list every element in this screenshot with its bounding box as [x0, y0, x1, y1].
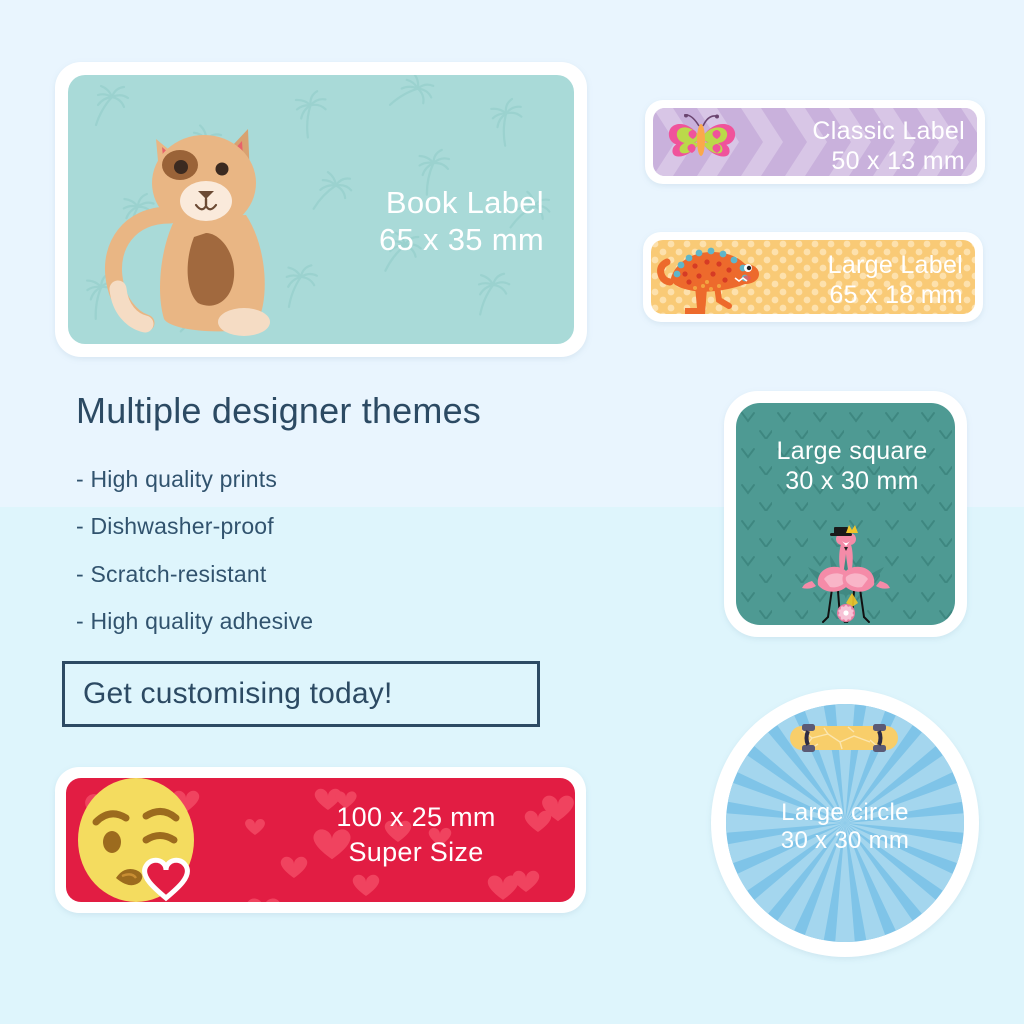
super-size-sticker[interactable]: 100 x 25 mm Super Size [55, 767, 586, 913]
cta-button[interactable]: Get customising today! [62, 661, 540, 727]
large-label-face: Large Label 65 x 18 mm [651, 240, 975, 314]
cta-button-label: Get customising today! [83, 677, 393, 711]
book-label-text: Book Label 65 x 35 mm [244, 185, 544, 258]
feature-list-item: - Scratch-resistant [76, 561, 266, 588]
large-square-sticker[interactable]: Large square 30 x 30 mm [724, 391, 967, 637]
large-label-sticker[interactable]: Large Label 65 x 18 mm [643, 232, 983, 322]
large-square-text: Large square 30 x 30 mm [752, 437, 952, 496]
kissing-face-emoji-icon [74, 778, 210, 902]
classic-label-text: Classic Label 50 x 13 mm [735, 117, 965, 176]
super-size-face: 100 x 25 mm Super Size [66, 778, 575, 902]
large-circle-text: Large circle 30 x 30 mm [738, 799, 952, 856]
promo-graphic: Book Label 65 x 35 mm [0, 0, 1024, 1024]
book-label-face: Book Label 65 x 35 mm [68, 75, 574, 344]
skateboard-icon [788, 722, 900, 756]
large-square-face: Large square 30 x 30 mm [736, 403, 955, 625]
feature-list-item: - High quality prints [76, 466, 277, 493]
flamingos-icon [782, 517, 910, 625]
feature-list-item: - High quality adhesive [76, 608, 313, 635]
large-circle-sticker[interactable]: Large circle 30 x 30 mm [711, 689, 979, 957]
large-circle-face: Large circle 30 x 30 mm [726, 704, 964, 942]
classic-label-face: Classic Label 50 x 13 mm [653, 108, 977, 176]
classic-label-sticker[interactable]: Classic Label 50 x 13 mm [645, 100, 985, 184]
page-headline: Multiple designer themes [76, 390, 481, 432]
super-size-text: 100 x 25 mm Super Size [266, 800, 566, 870]
book-label-sticker[interactable]: Book Label 65 x 35 mm [55, 62, 587, 357]
large-label-text: Large Label 65 x 18 mm [733, 251, 963, 310]
feature-list-item: - Dishwasher-proof [76, 513, 274, 540]
